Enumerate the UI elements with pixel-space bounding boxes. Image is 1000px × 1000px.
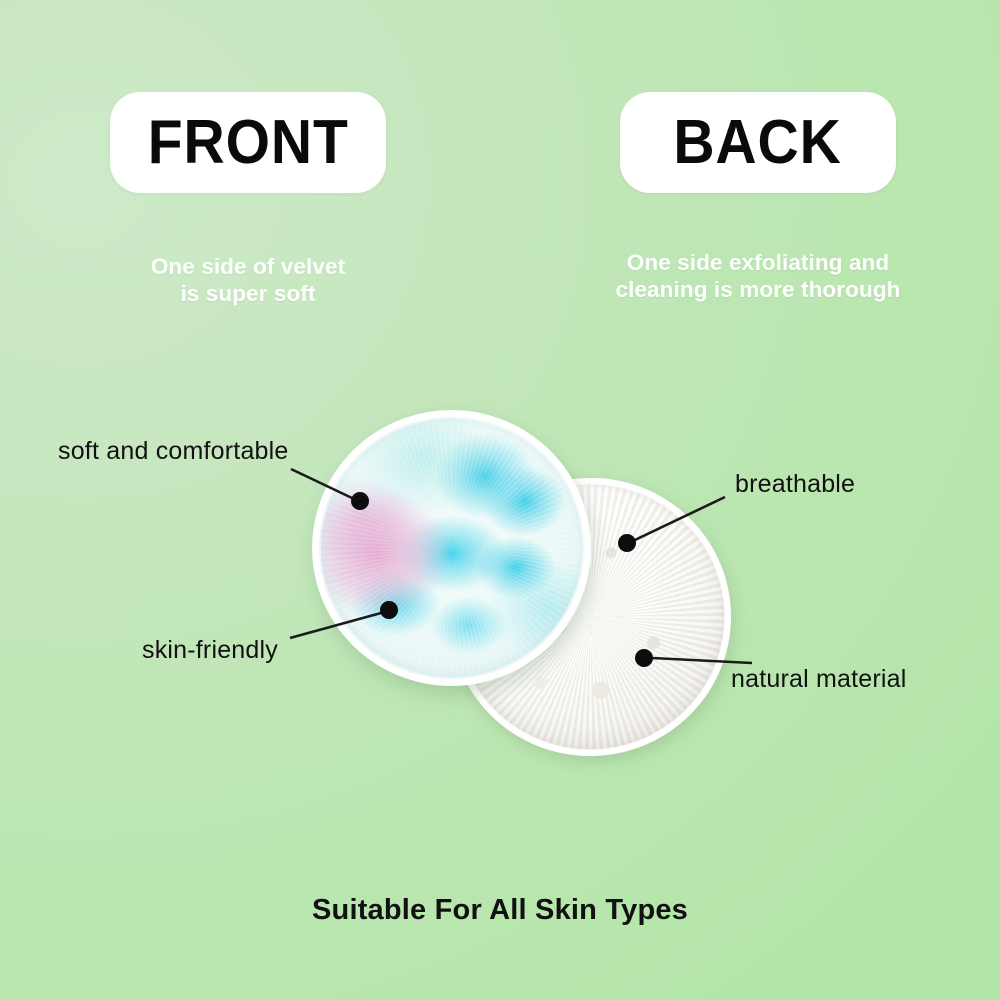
callout-label-skin: skin-friendly bbox=[142, 636, 278, 665]
callout-dot-natural bbox=[635, 649, 653, 667]
leader-line-skin bbox=[290, 613, 381, 638]
callout-dot-skin bbox=[380, 601, 398, 619]
leader-line-soft bbox=[291, 469, 352, 498]
callout-label-soft: soft and comfortable bbox=[58, 437, 289, 466]
callout-dot-breathable bbox=[618, 534, 636, 552]
callout-dot-soft bbox=[351, 492, 369, 510]
leader-line-breathable bbox=[635, 497, 725, 540]
product-infographic: FRONT BACK One side of velvet is super s… bbox=[0, 0, 1000, 1000]
callout-label-breathable: breathable bbox=[735, 470, 855, 499]
callout-label-natural: natural material bbox=[731, 665, 907, 694]
leader-line-natural bbox=[652, 658, 752, 663]
footer-tagline: Suitable For All Skin Types bbox=[0, 894, 1000, 927]
callout-lines bbox=[0, 0, 1000, 1000]
